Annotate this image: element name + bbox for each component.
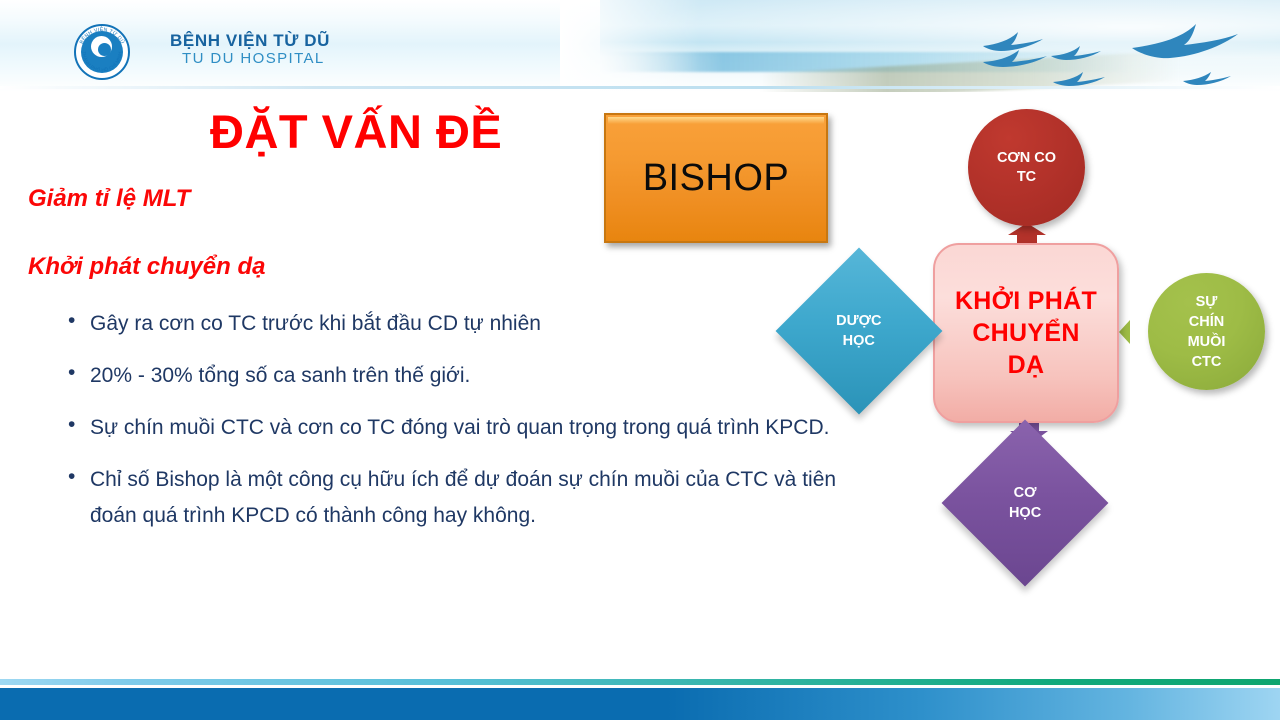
bullet-marker-icon: • <box>64 410 90 440</box>
svg-text:THÀNH PHỐ HỒ CHÍ MINH: THÀNH PHỐ HỒ CHÍ MINH <box>81 51 122 72</box>
node-su-chin-muoi-line3: MUỒI <box>1188 332 1226 352</box>
node-con-co-tc-line2: TC <box>997 168 1056 187</box>
list-item: • Gây ra cơn co TC trước khi bắt đầu CD … <box>64 306 854 342</box>
hospital-name: BỆNH VIỆN TỪ DŨ TU DU HOSPITAL <box>170 31 330 68</box>
bullet-marker-icon: • <box>64 358 90 388</box>
bird-icon <box>1130 18 1240 62</box>
subheading-2: Khởi phát chuyển dạ <box>28 253 265 281</box>
node-center-line2: CHUYỂN <box>955 317 1097 349</box>
arrow-left-icon <box>1116 312 1152 352</box>
bullet-marker-icon: • <box>64 306 90 336</box>
footer-bar <box>0 688 1280 720</box>
hospital-name-en: TU DU HOSPITAL <box>170 50 330 68</box>
subheading-1: Giảm tỉ lệ MLT <box>28 185 190 213</box>
list-item-text: Chỉ số Bishop là một công cụ hữu ích để … <box>90 462 854 534</box>
node-co-hoc-line2: HỌC <box>1009 503 1041 523</box>
banner-underline <box>0 86 1280 89</box>
bird-icon <box>982 48 1048 70</box>
node-center-line1: KHỞI PHÁT <box>955 285 1097 317</box>
node-duoc-hoc-line1: DƯỢC <box>836 311 881 331</box>
bullet-marker-icon: • <box>64 462 90 492</box>
list-item-text: Sự chín muồi CTC và cơn co TC đóng vai t… <box>90 410 854 446</box>
hospital-name-vi: BỆNH VIỆN TỪ DŨ <box>170 31 330 50</box>
node-su-chin-muoi-line4: CTC <box>1188 352 1226 372</box>
diagram-node-su-chin-muoi-ctc: SỰ CHÍN MUỒI CTC <box>1148 273 1265 390</box>
bird-icon <box>1050 44 1102 62</box>
bullet-list: • Gây ra cơn co TC trước khi bắt đầu CD … <box>64 306 854 550</box>
list-item-text: Gây ra cơn co TC trước khi bắt đầu CD tự… <box>90 306 854 342</box>
list-item: • Chỉ số Bishop là một công cụ hữu ích đ… <box>64 462 854 534</box>
node-duoc-hoc-line2: HỌC <box>836 331 881 351</box>
bishop-label: BISHOP <box>643 157 790 200</box>
banner-left-fade <box>560 0 700 92</box>
tu-du-hospital-logo-icon: BỆNH VIỆN TỪ DŨ THÀNH PHỐ HỒ CHÍ MINH <box>74 24 130 80</box>
diagram-node-co-hoc: CƠ HỌC <box>942 420 1109 587</box>
node-center-line3: DẠ <box>955 349 1097 381</box>
list-item: • 20% - 30% tổng số ca sanh trên thế giớ… <box>64 358 854 394</box>
node-su-chin-muoi-line1: SỰ <box>1188 292 1226 312</box>
list-item-text: 20% - 30% tổng số ca sanh trên thế giới. <box>90 358 854 394</box>
diagram-node-khoi-phat-chuyen-da: KHỞI PHÁT CHUYỂN DẠ <box>933 243 1119 423</box>
bishop-box: BISHOP <box>604 113 828 243</box>
diagram-node-con-co-tc: CƠN CO TC <box>968 109 1085 226</box>
svg-text:BỆNH VIỆN TỪ DŨ: BỆNH VIỆN TỪ DŨ <box>79 25 126 45</box>
page-title: ĐẶT VẤN ĐỀ <box>210 104 502 159</box>
list-item: • Sự chín muồi CTC và cơn co TC đóng vai… <box>64 410 854 446</box>
node-con-co-tc-line1: CƠN CO <box>997 149 1056 168</box>
node-su-chin-muoi-line2: CHÍN <box>1188 312 1226 332</box>
node-co-hoc-line1: CƠ <box>1009 483 1041 503</box>
bird-icon <box>1182 70 1232 86</box>
